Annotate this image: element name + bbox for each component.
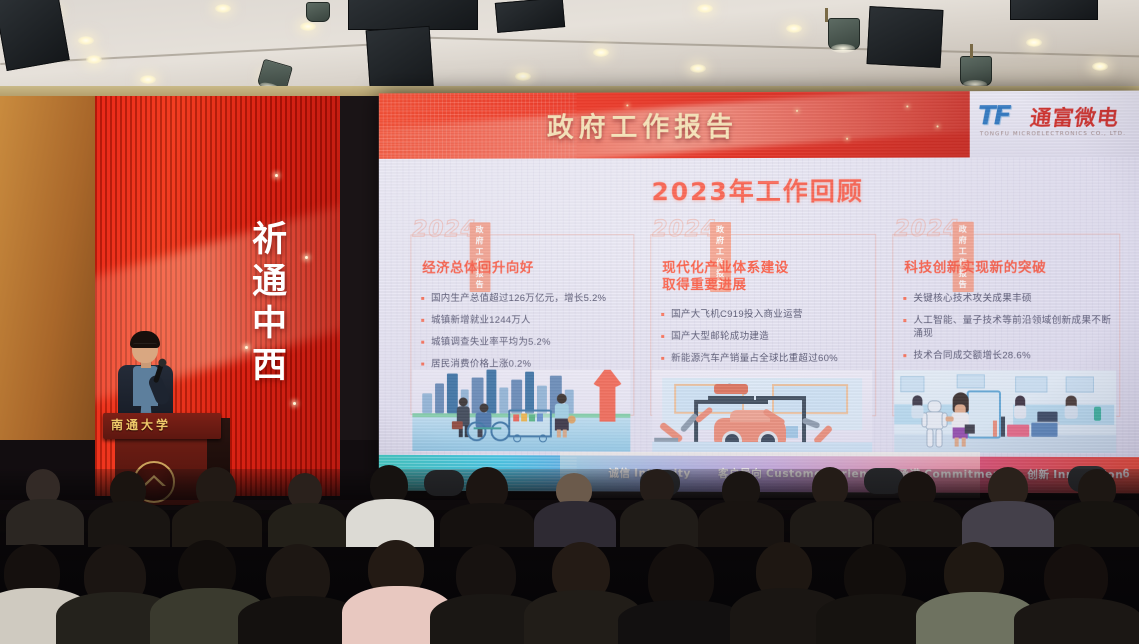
- stage-light-barndoor: [0, 0, 70, 71]
- projection-screen: 政府工作报告 TF 通富微电 TONGFU MICROELECTRONICS C…: [379, 91, 1139, 494]
- company-logo: TF 通富微电 TONGFU MICROELECTRONICS CO., LTD…: [976, 99, 1134, 148]
- column-3-heading: 科技创新实现新的突破: [904, 260, 1116, 277]
- stage-light-barndoor: [867, 6, 944, 68]
- shopping-cart-icon: [508, 409, 552, 437]
- stage-spotlight: [828, 18, 858, 48]
- person-figure: [951, 394, 971, 446]
- bullet-item: 国产大型邮轮成功建造: [660, 330, 874, 343]
- ceiling-downlight: [1026, 38, 1042, 47]
- column-2-heading-line1: 现代化产业体系建设: [662, 260, 872, 277]
- stage-light-barndoor: [495, 0, 565, 33]
- humanoid-robot-icon: [922, 400, 944, 446]
- stage-spotlight: [960, 56, 990, 84]
- ceiling-downlight: [140, 75, 156, 84]
- bullet-item: 关键核心技术攻关成果丰硕: [902, 292, 1118, 305]
- watermark-year: 2024: [412, 217, 476, 242]
- slide-column-1: 2024 政府工作报告 经济总体回升向好 国内生产总值超过126万亿元，增长5.…: [406, 220, 636, 447]
- person-figure: [1064, 397, 1080, 419]
- ceiling-downlight: [697, 4, 713, 13]
- bullet-item: 新能源汽车产销量占全球比重超过60%: [660, 352, 874, 365]
- watermark-year: 2024: [894, 217, 960, 242]
- logo-mark-tf: TF: [978, 101, 1010, 131]
- slide-body: 2023年工作回顾 2024 政府工作报告 经济总体回升向好 国内生产总值超过1…: [379, 157, 1139, 457]
- stage-light-barndoor: [1010, 0, 1098, 20]
- slide-column-2: 2024 政府工作报告 现代化产业体系建设 取得重要进展 国产大飞机C919投入…: [646, 220, 878, 449]
- ceiling-downlight: [786, 24, 802, 33]
- ceiling-downlight: [300, 22, 316, 31]
- stage-spotlight: [306, 2, 328, 20]
- bullet-item: 城镇新增就业1244万人: [420, 314, 632, 327]
- banner-motto-line-2: 力求精诚: [331, 314, 340, 474]
- watermark-year: 2024: [652, 217, 717, 242]
- bullet-item: 国产大飞机C919投入商业运营: [660, 308, 874, 321]
- banner-motto-line-1: 祈通中西: [241, 220, 292, 388]
- speaker-person: [112, 333, 178, 425]
- bullet-item: 人工智能、量子技术等前沿领域创新成果不断涌现: [902, 314, 1118, 340]
- illustration-manufacturing: [652, 370, 872, 452]
- watermark-label: 政府工作报告: [470, 222, 491, 292]
- column-1-heading: 经济总体回升向好: [422, 260, 630, 277]
- auditorium-photo: 祈通中西 力求精诚 南通大学 政府工作报告: [0, 0, 1139, 644]
- person-figure: [1013, 396, 1027, 418]
- ceiling-downlight: [215, 4, 231, 13]
- bullet-item: 技术合同成交额增长28.6%: [902, 349, 1118, 362]
- illustration-innovation: [894, 370, 1116, 453]
- ceiling-downlight: [1092, 62, 1108, 71]
- column-2-heading: 现代化产业体系建设 取得重要进展: [662, 260, 872, 294]
- logo-name-en: TONGFU MICROELECTRONICS CO., LTD.: [980, 131, 1126, 137]
- lectern-nameplate: 南通大学: [111, 418, 183, 433]
- section-title: 2023年工作回顾: [379, 171, 1139, 208]
- ceiling: [0, 0, 1139, 92]
- shopper-figure: [553, 394, 571, 438]
- wood-wall-panel: [0, 96, 100, 496]
- slide-column-3: 2024 政府工作报告 科技创新实现新的突破 关键核心技术攻关成果丰硕 人工智能…: [888, 220, 1122, 450]
- ceiling-downlight: [515, 72, 531, 81]
- person-figure: [910, 396, 924, 418]
- slide-title: 政府工作报告: [547, 105, 738, 145]
- logo-name-cn: 通富微电: [1028, 102, 1121, 132]
- ceiling-downlight: [86, 55, 102, 64]
- slide-header-bar: 政府工作报告 TF 通富微电 TONGFU MICROELECTRONICS C…: [379, 91, 1139, 159]
- ceiling-downlight: [78, 36, 94, 45]
- ceiling-downlight: [593, 48, 609, 57]
- stage-light-barndoor: [348, 0, 478, 30]
- bullet-item: 城镇调查失业率平均为5.2%: [420, 336, 632, 349]
- eyeglasses: [133, 343, 157, 349]
- bullet-item: 国内生产总值超过126万亿元，增长5.2%: [420, 292, 632, 305]
- illustration-economy: [412, 369, 630, 451]
- column-2-heading-line2: 取得重要进展: [662, 277, 872, 294]
- growth-arrow-icon: [591, 369, 625, 421]
- ceiling-downlight: [690, 64, 706, 73]
- audience: [0, 469, 1139, 644]
- dark-wall-panel: [336, 96, 380, 496]
- watermark-label: 政府工作报告: [953, 222, 974, 292]
